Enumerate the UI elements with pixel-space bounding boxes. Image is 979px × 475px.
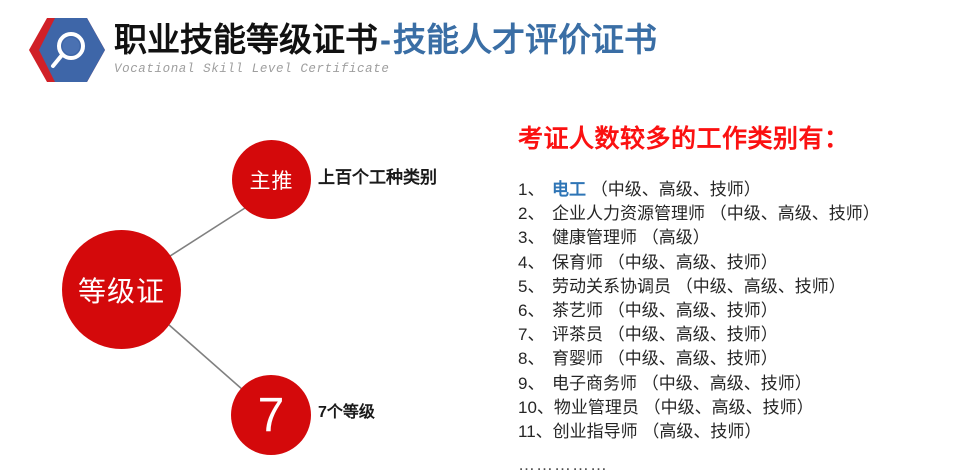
list-item-number: 11、 — [518, 420, 553, 444]
list-ellipsis: …………… — [518, 455, 970, 475]
diagram-node-center: 等级证 — [62, 230, 181, 349]
list-item-levels: （中级、高级、技师） — [603, 325, 778, 344]
list-item-occupation: 劳动关系协调员 — [552, 277, 671, 296]
diagram-label-seven-levels: 7个等级 — [318, 398, 375, 422]
popular-categories-heading: 考证人数较多的工作类别有： — [518, 122, 970, 156]
list-item-levels: （高级、技师） — [638, 422, 762, 441]
hexagon-magnifier-logo — [27, 14, 107, 86]
list-item-levels: （中级、高级、技师） — [603, 301, 778, 320]
list-item-levels: （中级、高级、技师） — [639, 398, 814, 417]
list-item-number: 10、 — [518, 396, 554, 420]
list-item: 10、物业管理员 （中级、高级、技师） — [518, 396, 970, 420]
list-item-levels: （中级、高级、技师） — [705, 204, 880, 223]
list-item: 3、健康管理师 （高级） — [518, 226, 970, 250]
diagram-node-main-push-label: 主推 — [250, 165, 294, 195]
list-item-number: 7、 — [518, 323, 552, 347]
list-item-occupation: 健康管理师 — [552, 228, 637, 247]
list-item: 7、评茶员 （中级、高级、技师） — [518, 323, 970, 347]
list-item-occupation: 创业指导师 — [553, 422, 638, 441]
list-item-number: 2、 — [518, 202, 552, 226]
list-item-levels: （中级、高级、技师） — [637, 374, 812, 393]
list-item-number: 1、 — [518, 178, 552, 202]
list-item-levels: （中级、高级、技师） — [586, 180, 761, 199]
list-item-number: 3、 — [518, 226, 552, 250]
list-item: 9、电子商务师 （中级、高级、技师） — [518, 372, 970, 396]
page-title-main: 职业技能等级证书 — [114, 21, 378, 58]
list-item-levels: （高级） — [637, 228, 710, 247]
list-item: 2、企业人力资源管理师 （中级、高级、技师） — [518, 202, 970, 226]
list-item: 1、电工 （中级、高级、技师） — [518, 178, 970, 202]
popular-categories-panel: 考证人数较多的工作类别有： 1、电工 （中级、高级、技师）2、企业人力资源管理师… — [518, 122, 970, 475]
list-item: 11、创业指导师 （高级、技师） — [518, 420, 970, 444]
list-item: 6、茶艺师 （中级、高级、技师） — [518, 299, 970, 323]
list-item-occupation: 茶艺师 — [552, 301, 603, 320]
page-title-english: Vocational Skill Level Certificate — [114, 62, 657, 76]
title-block: 职业技能等级证书-技能人才评价证书 Vocational Skill Level… — [114, 18, 657, 76]
list-item-levels: （中级、高级、技师） — [603, 253, 778, 272]
list-item-occupation: 电子商务师 — [552, 374, 637, 393]
list-item-number: 4、 — [518, 251, 552, 275]
list-item-number: 9、 — [518, 372, 552, 396]
list-item: 8、育婴师 （中级、高级、技师） — [518, 347, 970, 371]
list-item: 5、劳动关系协调员 （中级、高级、技师） — [518, 275, 970, 299]
certificate-diagram: 等级证 主推 上百个工种类别 7 7个等级 — [0, 100, 500, 470]
list-item: 4、保育师 （中级、高级、技师） — [518, 251, 970, 275]
list-item-levels: （中级、高级、技师） — [671, 277, 846, 296]
page-title-dash: - — [378, 21, 393, 58]
list-item-occupation: 评茶员 — [552, 325, 603, 344]
certificate-category-list: 1、电工 （中级、高级、技师）2、企业人力资源管理师 （中级、高级、技师）3、健… — [518, 178, 970, 444]
diagram-node-center-label: 等级证 — [78, 270, 165, 310]
list-item-number: 6、 — [518, 299, 552, 323]
list-item-occupation: 物业管理员 — [554, 398, 639, 417]
diagram-node-seven-label: 7 — [258, 388, 285, 443]
list-item-occupation: 企业人力资源管理师 — [552, 204, 705, 223]
diagram-node-main-push: 主推 — [232, 140, 311, 219]
page-title-sub: 技能人才评价证书 — [393, 21, 657, 58]
list-item-occupation: 育婴师 — [552, 349, 603, 368]
diagram-node-seven: 7 — [231, 375, 311, 455]
list-item-number: 8、 — [518, 347, 552, 371]
list-item-levels: （中级、高级、技师） — [603, 349, 778, 368]
list-item-occupation[interactable]: 电工 — [552, 180, 586, 199]
list-item-occupation: 保育师 — [552, 253, 603, 272]
list-item-number: 5、 — [518, 275, 552, 299]
page-title: 职业技能等级证书-技能人才评价证书 — [114, 18, 657, 62]
diagram-label-job-categories: 上百个工种类别 — [318, 163, 437, 188]
page-header: 职业技能等级证书-技能人才评价证书 Vocational Skill Level… — [0, 0, 979, 100]
